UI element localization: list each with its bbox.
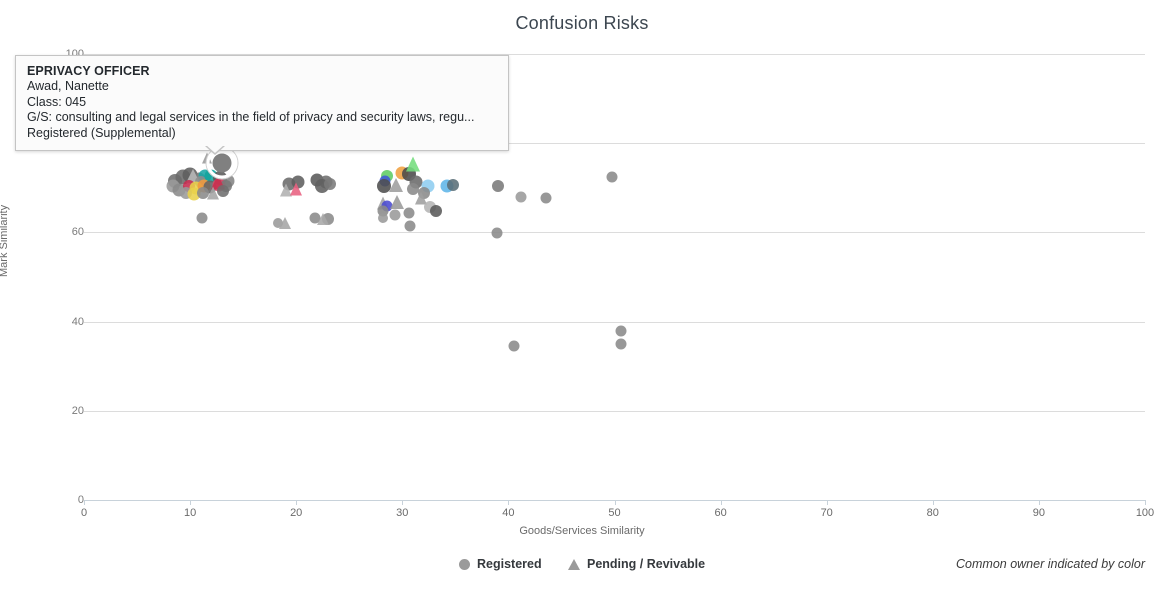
data-point-pending[interactable]	[406, 157, 420, 172]
legend-note: Common owner indicated by color	[956, 557, 1145, 571]
x-tick-50	[615, 500, 616, 505]
x-tick-90	[1039, 500, 1040, 505]
x-tick-label-20: 20	[276, 507, 316, 519]
data-point-registered[interactable]	[217, 185, 229, 197]
filled-triangle-icon	[568, 559, 580, 570]
data-point-registered[interactable]	[404, 220, 415, 231]
data-point-registered[interactable]	[492, 180, 504, 192]
x-tick-40	[508, 500, 509, 505]
x-tick-10	[190, 500, 191, 505]
legend-label-pending: Pending / Revivable	[587, 557, 705, 571]
data-point-pending[interactable]	[389, 178, 403, 192]
tooltip-arrow-fill	[206, 145, 224, 153]
data-point-registered[interactable]	[389, 210, 400, 221]
y-tick-label-0: 0	[24, 494, 84, 506]
gridline-y-20	[84, 411, 1145, 412]
x-tick-label-60: 60	[701, 507, 741, 519]
tooltip-status: Registered (Supplemental)	[27, 126, 497, 141]
x-tick-70	[827, 500, 828, 505]
data-point-registered[interactable]	[615, 338, 626, 349]
data-point-registered[interactable]	[447, 179, 459, 191]
y-axis-title: Mark Similarity	[0, 205, 10, 277]
data-point-pending[interactable]	[390, 195, 404, 209]
data-point-registered[interactable]	[508, 340, 519, 351]
data-point-pending[interactable]	[290, 182, 302, 195]
confusion-risks-chart: Confusion Risks Mark Similarity Goods/Se…	[0, 0, 1164, 591]
y-tick-label-40: 40	[24, 316, 84, 328]
x-axis-title: Goods/Services Similarity	[0, 525, 1164, 537]
x-tick-30	[402, 500, 403, 505]
tooltip-class: Class: 045	[27, 95, 497, 110]
x-tick-label-30: 30	[382, 507, 422, 519]
x-tick-label-70: 70	[807, 507, 847, 519]
data-point-registered[interactable]	[378, 213, 388, 223]
data-point-registered[interactable]	[491, 228, 502, 239]
tooltip-owner: Awad, Nanette	[27, 79, 497, 94]
data-point-registered[interactable]	[430, 205, 442, 217]
gridline-y-60	[84, 232, 1145, 233]
data-point-registered[interactable]	[324, 178, 336, 190]
x-tick-label-80: 80	[913, 507, 953, 519]
y-tick-label-60: 60	[24, 226, 84, 238]
data-point-registered[interactable]	[196, 212, 207, 223]
x-tick-label-10: 10	[170, 507, 210, 519]
tooltip-goods-services: G/S: consulting and legal services in th…	[27, 110, 497, 125]
page-title: Confusion Risks	[0, 13, 1164, 34]
legend: Registered Pending / Revivable Common ow…	[0, 556, 1164, 578]
data-point-selected[interactable]	[212, 154, 231, 173]
legend-item-pending[interactable]: Pending / Revivable	[568, 557, 705, 571]
x-tick-60	[721, 500, 722, 505]
x-tick-label-50: 50	[595, 507, 635, 519]
x-tick-20	[296, 500, 297, 505]
x-tick-0	[84, 500, 85, 505]
filled-circle-icon	[459, 559, 470, 570]
data-point-registered[interactable]	[607, 171, 618, 182]
x-tick-label-40: 40	[488, 507, 528, 519]
data-point-pending[interactable]	[317, 213, 329, 225]
data-point-registered[interactable]	[615, 325, 626, 336]
tooltip-mark-name: EPRIVACY OFFICER	[27, 64, 497, 79]
gridline-y-40	[84, 322, 1145, 323]
x-tick-label-0: 0	[64, 507, 104, 519]
x-tick-label-100: 100	[1125, 507, 1164, 519]
legend-label-registered: Registered	[477, 557, 542, 571]
x-tick-label-90: 90	[1019, 507, 1059, 519]
y-tick-label-20: 20	[24, 405, 84, 417]
legend-item-registered[interactable]: Registered	[459, 557, 542, 571]
x-tick-100	[1145, 500, 1146, 505]
x-tick-80	[933, 500, 934, 505]
data-point-registered[interactable]	[540, 192, 551, 203]
data-point-pending[interactable]	[279, 217, 291, 229]
data-point-registered[interactable]	[403, 208, 414, 219]
data-point-registered[interactable]	[516, 191, 527, 202]
point-tooltip: EPRIVACY OFFICER Awad, Nanette Class: 04…	[15, 55, 509, 151]
